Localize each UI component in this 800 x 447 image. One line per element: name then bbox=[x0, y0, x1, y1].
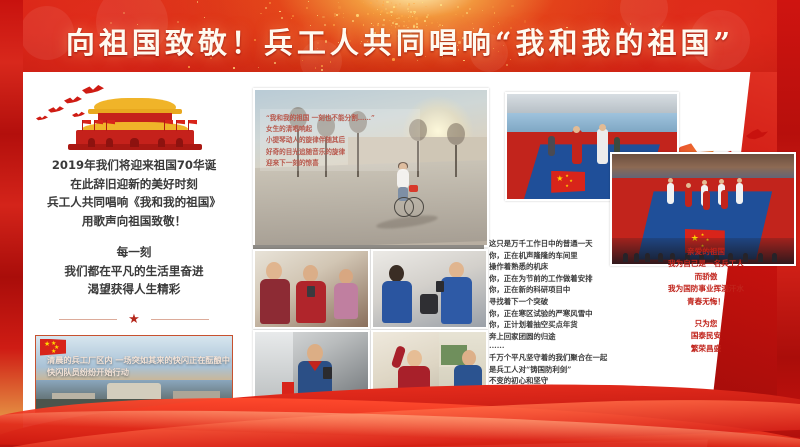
chorus-member bbox=[685, 187, 692, 207]
dove-icon bbox=[82, 82, 104, 97]
star-divider: ★ bbox=[59, 313, 209, 325]
blue-uniform bbox=[382, 281, 412, 323]
head bbox=[668, 178, 673, 183]
flag-pole bbox=[82, 120, 83, 131]
poster-page: 向祖国致敬！兵工人共同唱响“我和我的祖国” bbox=[0, 0, 800, 447]
intro-line-2: 渴望获得人生精彩 bbox=[30, 280, 238, 299]
bike-wheel bbox=[404, 197, 424, 217]
divider-line-right bbox=[151, 319, 209, 320]
gate-arch bbox=[88, 138, 95, 147]
raised-arm bbox=[391, 345, 406, 369]
chorus-member bbox=[721, 190, 728, 209]
head bbox=[449, 262, 464, 278]
torso bbox=[334, 283, 358, 319]
torso bbox=[397, 169, 409, 189]
intro-line: 在此辞旧迎新的美好时刻 bbox=[30, 175, 238, 194]
head bbox=[719, 179, 724, 184]
right-poem-b: 只为您 国泰民安 繁荣昌盛 bbox=[648, 318, 764, 355]
blue-uniform bbox=[441, 277, 472, 324]
person-figure bbox=[260, 262, 290, 324]
head bbox=[307, 344, 323, 362]
chorus-member bbox=[667, 183, 674, 204]
head bbox=[407, 350, 422, 367]
spacer bbox=[30, 230, 238, 243]
bike-basket bbox=[409, 185, 418, 192]
street-overlay-text: “我和我的祖国 一刻也不能分割……” 女生的清唱响起 小提琴动人的旋律伴随其后 … bbox=[266, 113, 375, 169]
bystander bbox=[548, 136, 555, 156]
head bbox=[462, 350, 476, 366]
flag-pole bbox=[164, 120, 165, 131]
gate-arch bbox=[158, 138, 165, 147]
dove-icon bbox=[746, 128, 768, 144]
flag-pole bbox=[106, 120, 107, 131]
banner-title: 向祖国致敬！兵工人共同唱响“我和我的祖国” bbox=[0, 20, 800, 62]
head bbox=[303, 265, 318, 282]
divider-line-left bbox=[59, 319, 117, 320]
left-column: 2019年我们将迎来祖国70华诞 在此辞旧迎新的美好时刻 兵工人共同唱响《我和我… bbox=[30, 80, 238, 413]
person-figure bbox=[334, 269, 358, 319]
star-icon: ★ bbox=[128, 313, 140, 325]
dove-icon bbox=[36, 114, 48, 122]
singer-figure bbox=[572, 130, 582, 164]
dove-icon bbox=[64, 94, 82, 106]
china-flag-icon: ★ ★ ★ ★ bbox=[551, 171, 585, 193]
head bbox=[686, 183, 691, 188]
red-flag-icon bbox=[189, 120, 197, 126]
tree bbox=[455, 145, 457, 177]
intro-line-2: 我们都在平凡的生活里奋进 bbox=[30, 262, 238, 281]
person-figure bbox=[441, 262, 472, 324]
street-photo-overlay: “我和我的祖国 一刻也不能分割……” 女生的清唱响起 小提琴动人的旋律伴随其后 … bbox=[260, 109, 420, 171]
gate-arch bbox=[176, 138, 183, 147]
phone-icon bbox=[436, 281, 444, 292]
head bbox=[339, 269, 353, 284]
gate-arch bbox=[106, 138, 113, 147]
title-banner: 向祖国致敬！兵工人共同唱响“我和我的祖国” bbox=[0, 0, 800, 72]
chorus-member bbox=[736, 183, 743, 204]
flag-pole bbox=[176, 120, 177, 131]
intro-line: 用歌声向祖国致敬！ bbox=[30, 212, 238, 231]
street-cycling-photo: “我和我的祖国 一刻也不能分割……” 女生的清唱响起 小提琴动人的旋律伴随其后 … bbox=[253, 88, 489, 247]
main-poem-text: 这只是万千工作日中的普通一天 你，正在机声隆隆的车间里 操作着熟悉的机床 你，正… bbox=[489, 238, 649, 354]
two-workers-photo bbox=[371, 249, 488, 329]
hall-mural bbox=[507, 113, 677, 132]
chorus-member bbox=[703, 191, 710, 210]
dove-icon bbox=[48, 104, 64, 115]
flag-pole bbox=[94, 120, 95, 131]
flag-pole bbox=[188, 120, 189, 131]
bottom-silk-ribbon bbox=[0, 375, 800, 447]
dove-icon bbox=[72, 110, 85, 119]
intro-line: 2019年我们将迎来祖国70华诞 bbox=[30, 156, 238, 175]
elderly-women-photo bbox=[253, 249, 370, 329]
singer-figure bbox=[597, 129, 608, 164]
torso bbox=[260, 279, 290, 324]
person-figure bbox=[382, 265, 412, 323]
head bbox=[573, 126, 580, 133]
hair bbox=[389, 265, 404, 282]
intro-text-block: 2019年我们将迎来祖国70华诞 在此辞旧迎新的美好时刻 兵工人共同唱响《我和我… bbox=[30, 156, 238, 299]
head bbox=[266, 262, 282, 280]
gate-arch-center bbox=[130, 138, 139, 147]
intro-line-2: 每一刻 bbox=[30, 243, 238, 262]
office-chair bbox=[420, 294, 438, 314]
tiananmen-gate-icon bbox=[30, 80, 238, 152]
phone-icon bbox=[307, 286, 315, 297]
right-poem-a: 亲爱的祖国 我为自己是一名兵工人 而骄傲 我为国防事业挥洒汗水 青春无悔！ bbox=[648, 246, 764, 308]
intro-line: 兵工人共同唱响《我和我的祖国》 bbox=[30, 193, 238, 212]
